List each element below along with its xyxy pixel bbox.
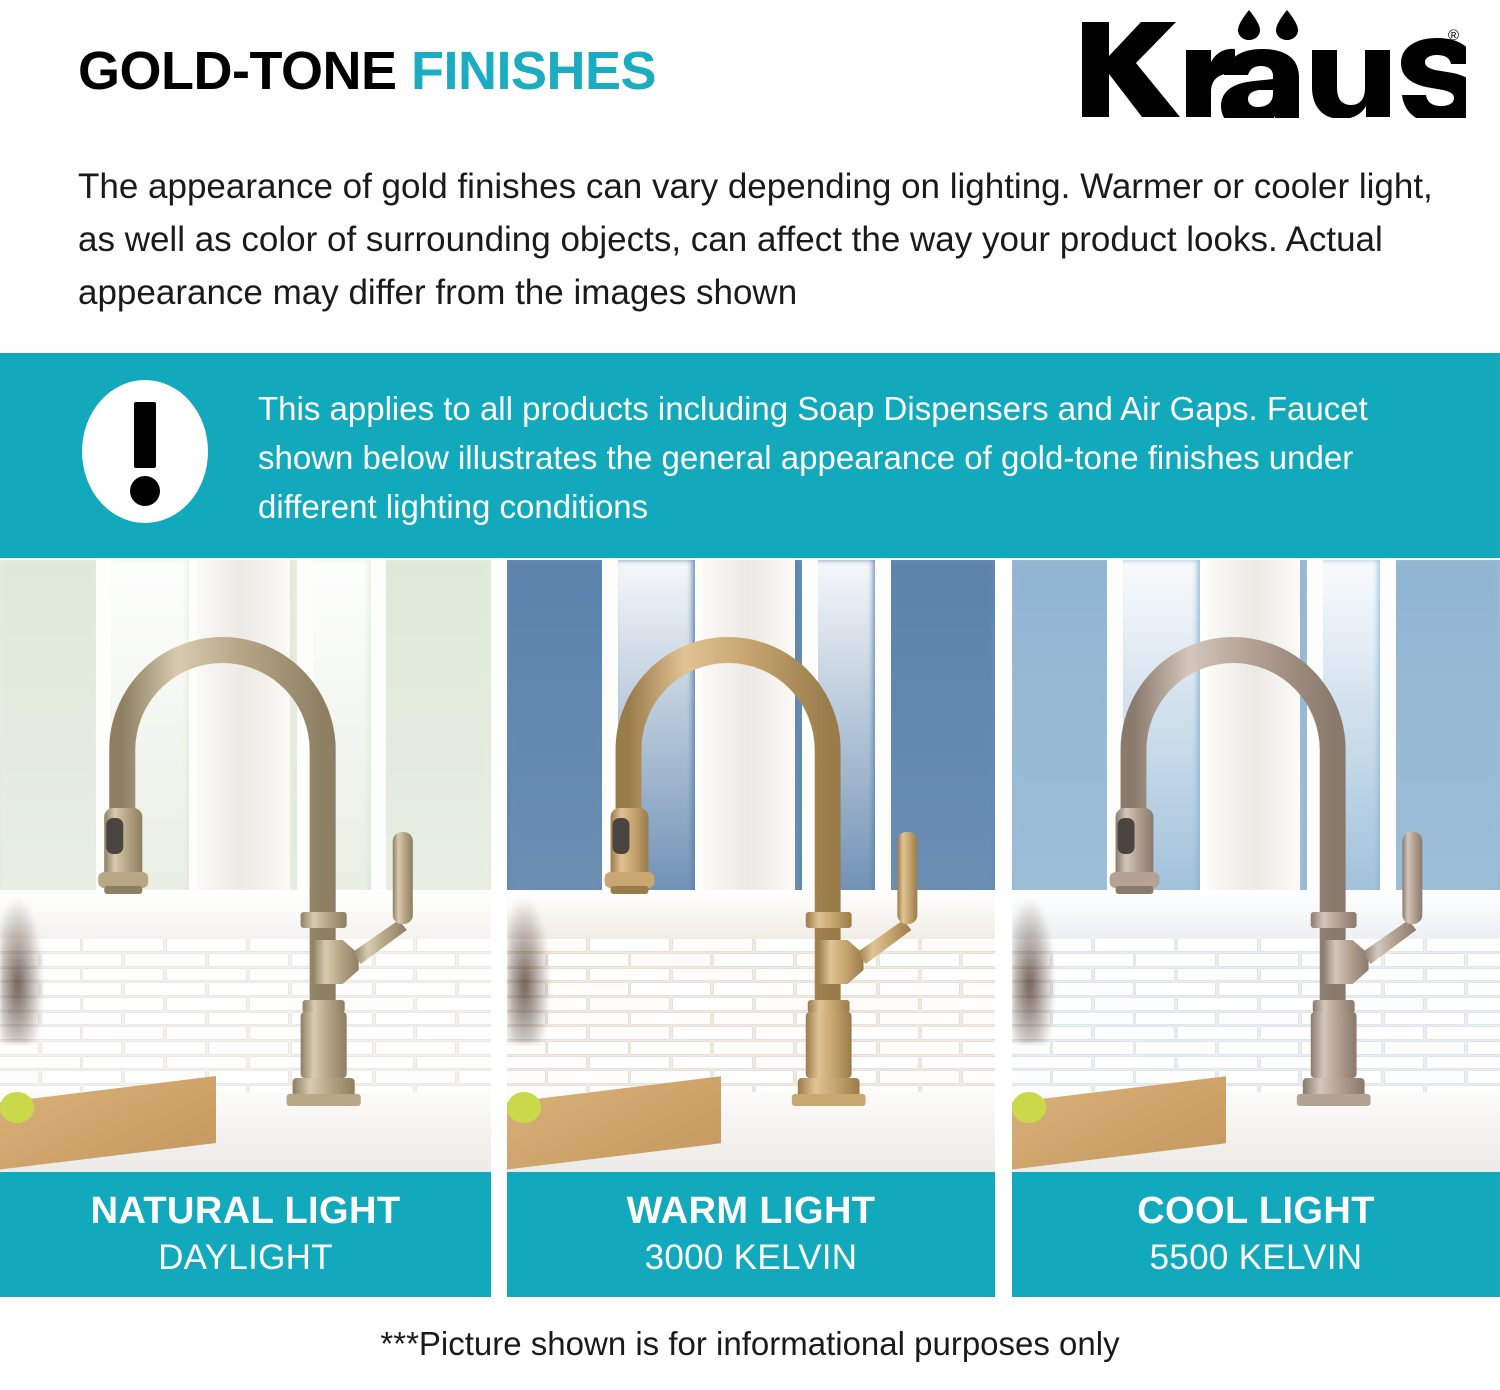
caption-title: COOL LIGHT [1137,1190,1375,1234]
notice-text: This applies to all products including S… [258,385,1438,531]
registered-mark: ® [1448,27,1459,44]
page-header: GOLD-TONE FINISHES ® The appearance of g… [0,0,1500,353]
faucet-photo-cool [1012,560,1500,1172]
kitchen-faucet [1012,560,1500,1172]
kitchen-faucet [507,560,995,1172]
faucet-photo-natural [0,560,491,1172]
intro-paragraph: The appearance of gold finishes can vary… [78,160,1438,320]
caption-warm: WARM LIGHT 3000 KELVIN [507,1172,995,1297]
caption-subtitle: 3000 KELVIN [645,1237,858,1279]
footer-disclaimer: ***Picture shown is for informational pu… [380,1325,1119,1363]
lighting-panel-warm: WARM LIGHT 3000 KELVIN [507,560,995,1297]
exclamation-dot [130,476,160,506]
faucet-photo-warm [507,560,995,1172]
lighting-panel-cool: COOL LIGHT 5500 KELVIN [1012,560,1500,1297]
lighting-panel-natural: NATURAL LIGHT DAYLIGHT [0,560,491,1297]
caption-title: NATURAL LIGHT [91,1190,401,1234]
caption-subtitle: DAYLIGHT [158,1237,333,1279]
page-title: GOLD-TONE FINISHES [78,44,656,98]
caption-natural: NATURAL LIGHT DAYLIGHT [0,1172,491,1297]
exclamation-bar [134,402,156,468]
caption-cool: COOL LIGHT 5500 KELVIN [1012,1172,1500,1297]
caption-title: WARM LIGHT [627,1190,876,1234]
kitchen-faucet [0,560,491,1172]
page-title-dark: GOLD-TONE [78,41,411,101]
footer: ***Picture shown is for informational pu… [0,1297,1500,1390]
exclamation-icon [82,380,208,523]
kraus-logo: ® [1066,6,1466,118]
lighting-comparison-strip: NATURAL LIGHT DAYLIGHT WARM LIGHT 3000 K… [0,560,1500,1297]
caption-subtitle: 5500 KELVIN [1150,1237,1363,1279]
page-title-accent: FINISHES [411,41,656,101]
